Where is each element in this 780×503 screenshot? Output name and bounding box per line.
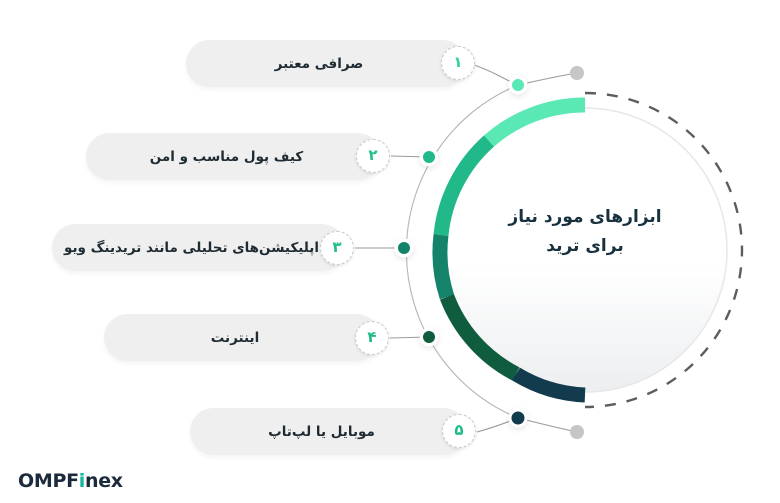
end-dot-bottom xyxy=(570,425,584,439)
item-badge-5[interactable]: ۵ xyxy=(442,414,476,448)
logo-part2: nex xyxy=(85,470,123,492)
node-dot-4 xyxy=(420,328,439,347)
arc-segment-1 xyxy=(489,105,585,141)
item-badge-3[interactable]: ۳ xyxy=(320,231,354,265)
item-number-1: ۱ xyxy=(453,55,462,70)
center-title-line1: ابزارهای مورد نیاز xyxy=(470,203,700,232)
item-badge-2[interactable]: ۲ xyxy=(356,139,390,173)
logo-part1: OMPF xyxy=(18,470,79,492)
connector-5b xyxy=(518,418,577,432)
node-dot-2 xyxy=(420,148,439,167)
item-pill-5[interactable]: موبایل یا لپ‌تاپ xyxy=(190,408,467,455)
connector-4 xyxy=(390,337,429,338)
center-title-line2: برای ترید xyxy=(470,232,700,261)
end-dot-top xyxy=(570,66,584,80)
item-number-5: ۵ xyxy=(454,423,463,438)
item-pill-4[interactable]: اینترنت xyxy=(104,314,380,361)
item-label-1: صرافی معتبر xyxy=(255,56,398,72)
connector-1 xyxy=(474,65,518,85)
center-title: ابزارهای مورد نیاز برای ترید xyxy=(470,203,700,261)
arc-segment-4 xyxy=(447,297,516,374)
item-badge-4[interactable]: ۴ xyxy=(355,321,389,355)
brand-logo: OMPFinex xyxy=(18,470,123,492)
arc-segment-3 xyxy=(440,235,447,297)
connector-5 xyxy=(477,418,518,432)
item-pill-1[interactable]: صرافی معتبر xyxy=(186,40,466,87)
node-dot-5 xyxy=(509,409,528,428)
item-label-4: اینترنت xyxy=(191,330,293,346)
connector-2 xyxy=(391,156,429,157)
item-badge-1[interactable]: ۱ xyxy=(441,46,475,80)
connector-1b xyxy=(518,73,577,85)
item-label-2: کیف پول مناسب و امن xyxy=(130,149,338,165)
arc-segment-5 xyxy=(516,374,585,395)
item-pill-2[interactable]: کیف پول مناسب و امن xyxy=(86,133,381,180)
item-pill-3[interactable]: اپلیکیشن‌های تحلیلی مانند تریدینگ ویو xyxy=(52,224,345,271)
item-number-3: ۳ xyxy=(332,240,341,255)
item-label-3: اپلیکیشن‌های تحلیلی مانند تریدینگ ویو xyxy=(44,240,353,256)
node-dot-1 xyxy=(509,76,528,95)
item-number-2: ۲ xyxy=(368,148,377,163)
item-number-4: ۴ xyxy=(367,330,376,345)
infographic-canvas: ابزارهای مورد نیاز برای ترید صرافی معتبر… xyxy=(0,0,780,503)
item-label-5: موبایل یا لپ‌تاپ xyxy=(248,424,409,440)
node-dot-3 xyxy=(395,239,414,258)
